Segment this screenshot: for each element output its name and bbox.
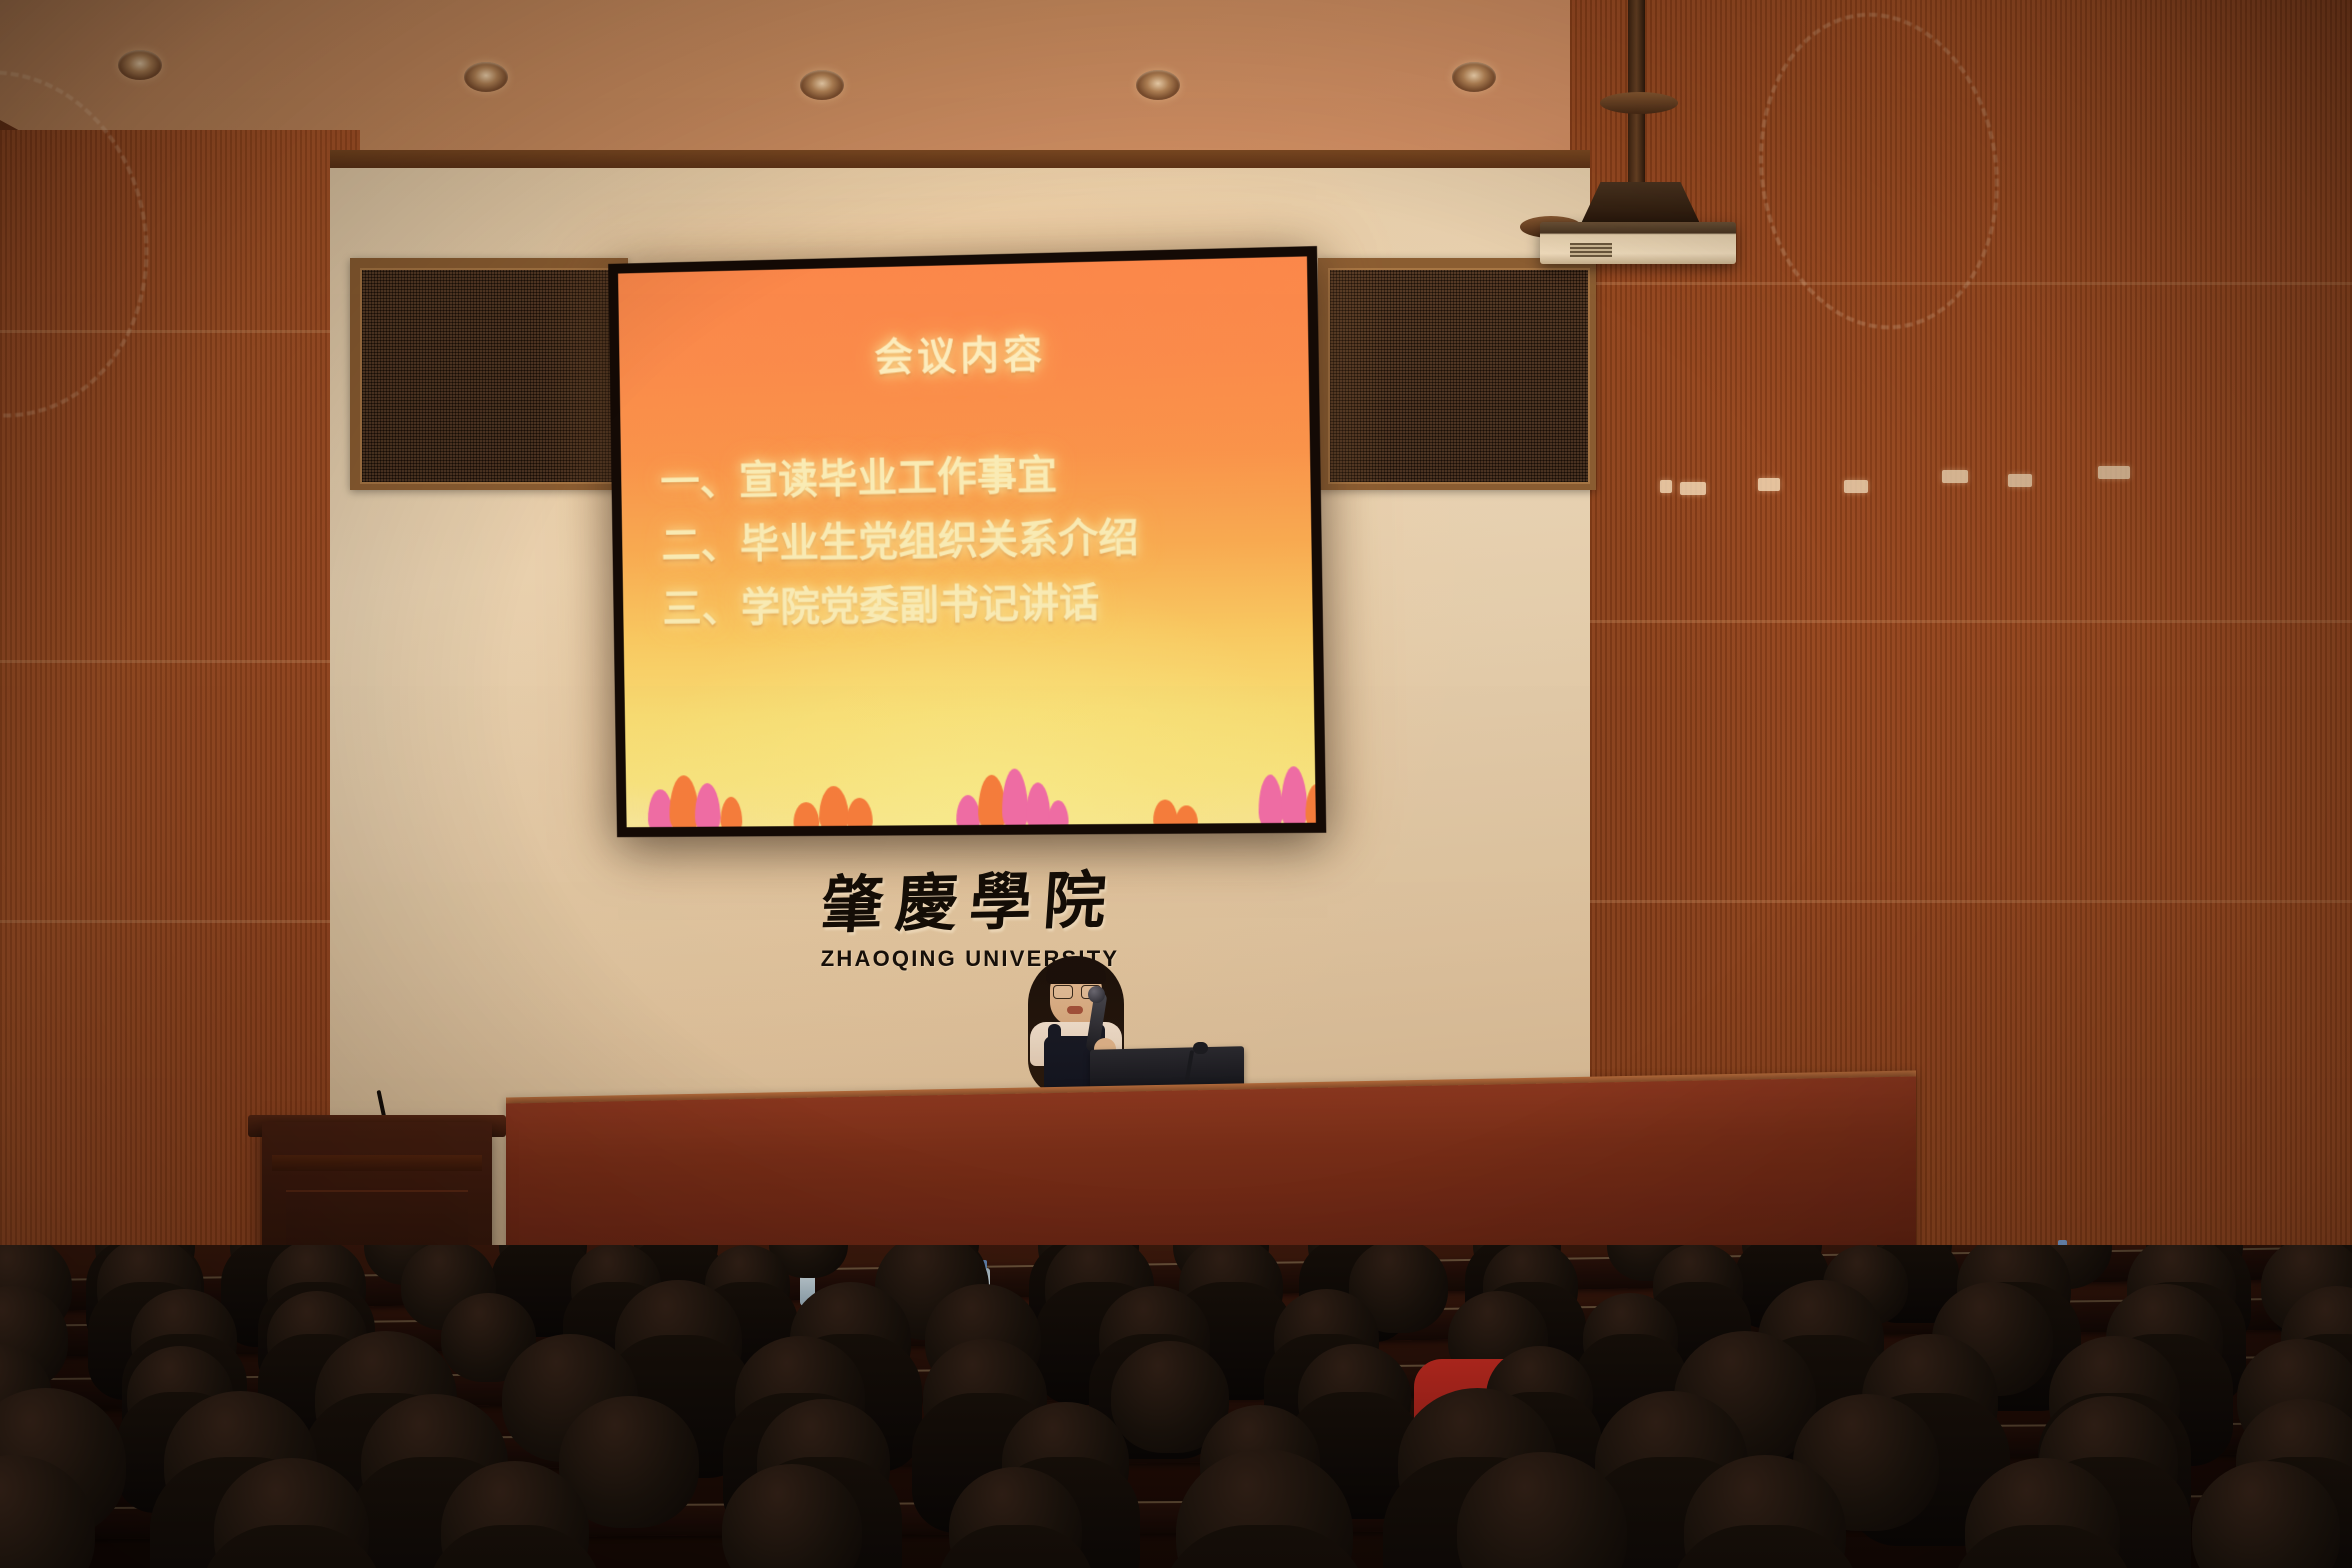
slide-flower-petal	[793, 802, 819, 827]
wall-marker	[1844, 480, 1868, 493]
ceiling-downlight	[1452, 62, 1496, 92]
slide-flower-petal	[694, 783, 720, 827]
wall-marker	[1942, 470, 1968, 483]
slide-flower-petal	[1280, 766, 1308, 827]
slide-flower-petal	[1153, 799, 1178, 827]
slide-flower-petal	[956, 795, 981, 827]
slide-flower-petal	[1002, 768, 1029, 827]
podium-trim	[272, 1155, 482, 1171]
microphone-head-icon	[1088, 986, 1105, 1003]
wall-marker	[1660, 480, 1672, 493]
slide-flower-decoration	[626, 752, 1316, 827]
audience-member	[1583, 1293, 1678, 1382]
auditorium-photo: 会议内容 一、宣读毕业工作事宜 二、毕业生党组织关系介绍 三、学院党委副书记讲话…	[0, 0, 2352, 1568]
wall-marker	[1758, 478, 1780, 491]
left-speaker-grille	[350, 258, 628, 490]
presenter-fringe	[1046, 958, 1106, 984]
wall-marker	[1680, 482, 1706, 495]
slide-agenda-item-2: 二、毕业生党组织关系介绍	[661, 503, 1292, 577]
slide-agenda-list: 一、宣读毕业工作事宜 二、毕业生党组织关系介绍 三、学院党委副书记讲话	[660, 439, 1293, 641]
projector-pole-collar	[1600, 92, 1678, 114]
wall-emblem-right	[1739, 0, 2019, 345]
slide-agenda-item-3: 三、学院党委副书记讲话	[662, 568, 1293, 641]
presenter-mouth	[1067, 1006, 1083, 1014]
audience-seating	[0, 1245, 2352, 1568]
university-name-chinese: 肇慶學院	[817, 849, 1124, 944]
right-speaker-grille	[1318, 258, 1596, 490]
slide-flower-petal	[1048, 800, 1069, 827]
wall-marker	[2098, 466, 2130, 479]
front-wall-soffit	[330, 150, 1590, 168]
ceiling-downlight	[464, 62, 508, 92]
wall-marker	[2008, 474, 2032, 487]
slide-flower-petal	[819, 786, 849, 827]
ceiling-downlight	[118, 50, 162, 80]
slide-flower-petal	[1258, 774, 1283, 827]
ceiling-downlight	[1136, 70, 1180, 100]
audience-member	[1298, 1344, 1411, 1450]
slide-agenda-item-1: 一、宣读毕业工作事宜	[660, 439, 1290, 514]
slide-flower-petal	[847, 798, 873, 828]
slide-flower-petal	[1305, 784, 1316, 827]
ceiling-downlight	[800, 70, 844, 100]
slide-flower-petal	[720, 797, 742, 828]
slide-flower-petal	[1026, 782, 1051, 827]
projector-vent	[1570, 243, 1612, 257]
table-microphone-head-icon	[1193, 1042, 1208, 1054]
projection-screen-frame: 会议内容 一、宣读毕业工作事宜 二、毕业生党组织关系介绍 三、学院党委副书记讲话	[608, 246, 1326, 837]
projection-screen: 会议内容 一、宣读毕业工作事宜 二、毕业生党组织关系介绍 三、学院党委副书记讲话	[618, 256, 1316, 827]
audience-member	[1742, 1245, 1822, 1278]
slide-flower-petal	[1175, 805, 1198, 827]
